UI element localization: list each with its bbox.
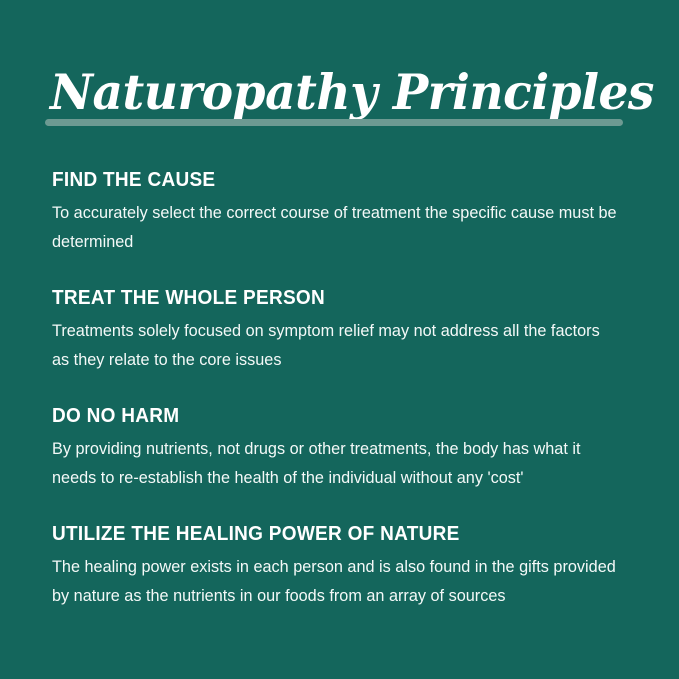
principle-item: DO NO HARM By providing nutrients, not d… (52, 404, 632, 493)
principle-heading-treat-the-whole-person: TREAT THE WHOLE PERSON (52, 286, 603, 310)
principle-body-do-no-harm: By providing nutrients, not drugs or oth… (52, 435, 621, 493)
principle-item: FIND THE CAUSE To accurately select the … (52, 168, 632, 257)
principle-item: TREAT THE WHOLE PERSON Treatments solely… (52, 286, 632, 375)
principle-body-treat-the-whole-person: Treatments solely focused on symptom rel… (52, 317, 621, 375)
principle-heading-utilize-the-healing-power-of-nature: UTILIZE THE HEALING POWER OF NATURE (52, 522, 603, 546)
title-divider (45, 119, 623, 126)
principle-heading-do-no-harm: DO NO HARM (52, 404, 603, 428)
principles-list: FIND THE CAUSE To accurately select the … (52, 168, 632, 611)
page-title: Naturopathy Principles (50, 61, 654, 123)
principle-item: UTILIZE THE HEALING POWER OF NATURE The … (52, 522, 632, 611)
poster-canvas: Naturopathy Principles FIND THE CAUSE To… (0, 0, 679, 679)
principle-heading-find-the-cause: FIND THE CAUSE (52, 168, 603, 192)
principle-body-utilize-the-healing-power-of-nature: The healing power exists in each person … (52, 553, 621, 611)
principle-body-find-the-cause: To accurately select the correct course … (52, 199, 621, 257)
